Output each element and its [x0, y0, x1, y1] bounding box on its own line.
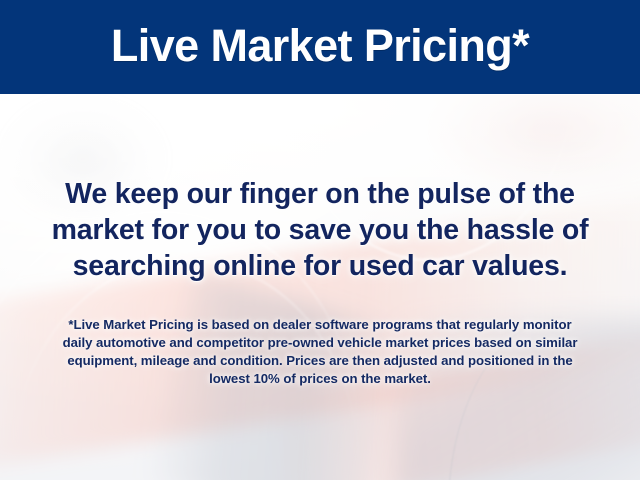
disclaimer-line-4: lowest 10% of prices on the market.: [24, 370, 616, 388]
headline-line-2: market for you to save you the hassle of: [26, 212, 614, 248]
headline: We keep our finger on the pulse of the m…: [26, 176, 614, 284]
disclaimer-text: *Live Market Pricing is based on dealer …: [24, 316, 616, 388]
headline-line-1: We keep our finger on the pulse of the: [26, 176, 614, 212]
live-market-pricing-banner: Live Market Pricing* We keep our finger …: [0, 0, 640, 480]
headline-line-3: searching online for used car values.: [26, 248, 614, 284]
disclaimer-line-1: *Live Market Pricing is based on dealer …: [24, 316, 616, 334]
header-bar: Live Market Pricing*: [0, 0, 640, 94]
disclaimer-line-3: equipment, mileage and condition. Prices…: [24, 352, 616, 370]
page-title: Live Market Pricing*: [111, 23, 529, 71]
disclaimer-line-2: daily automotive and competitor pre-owne…: [24, 334, 616, 352]
